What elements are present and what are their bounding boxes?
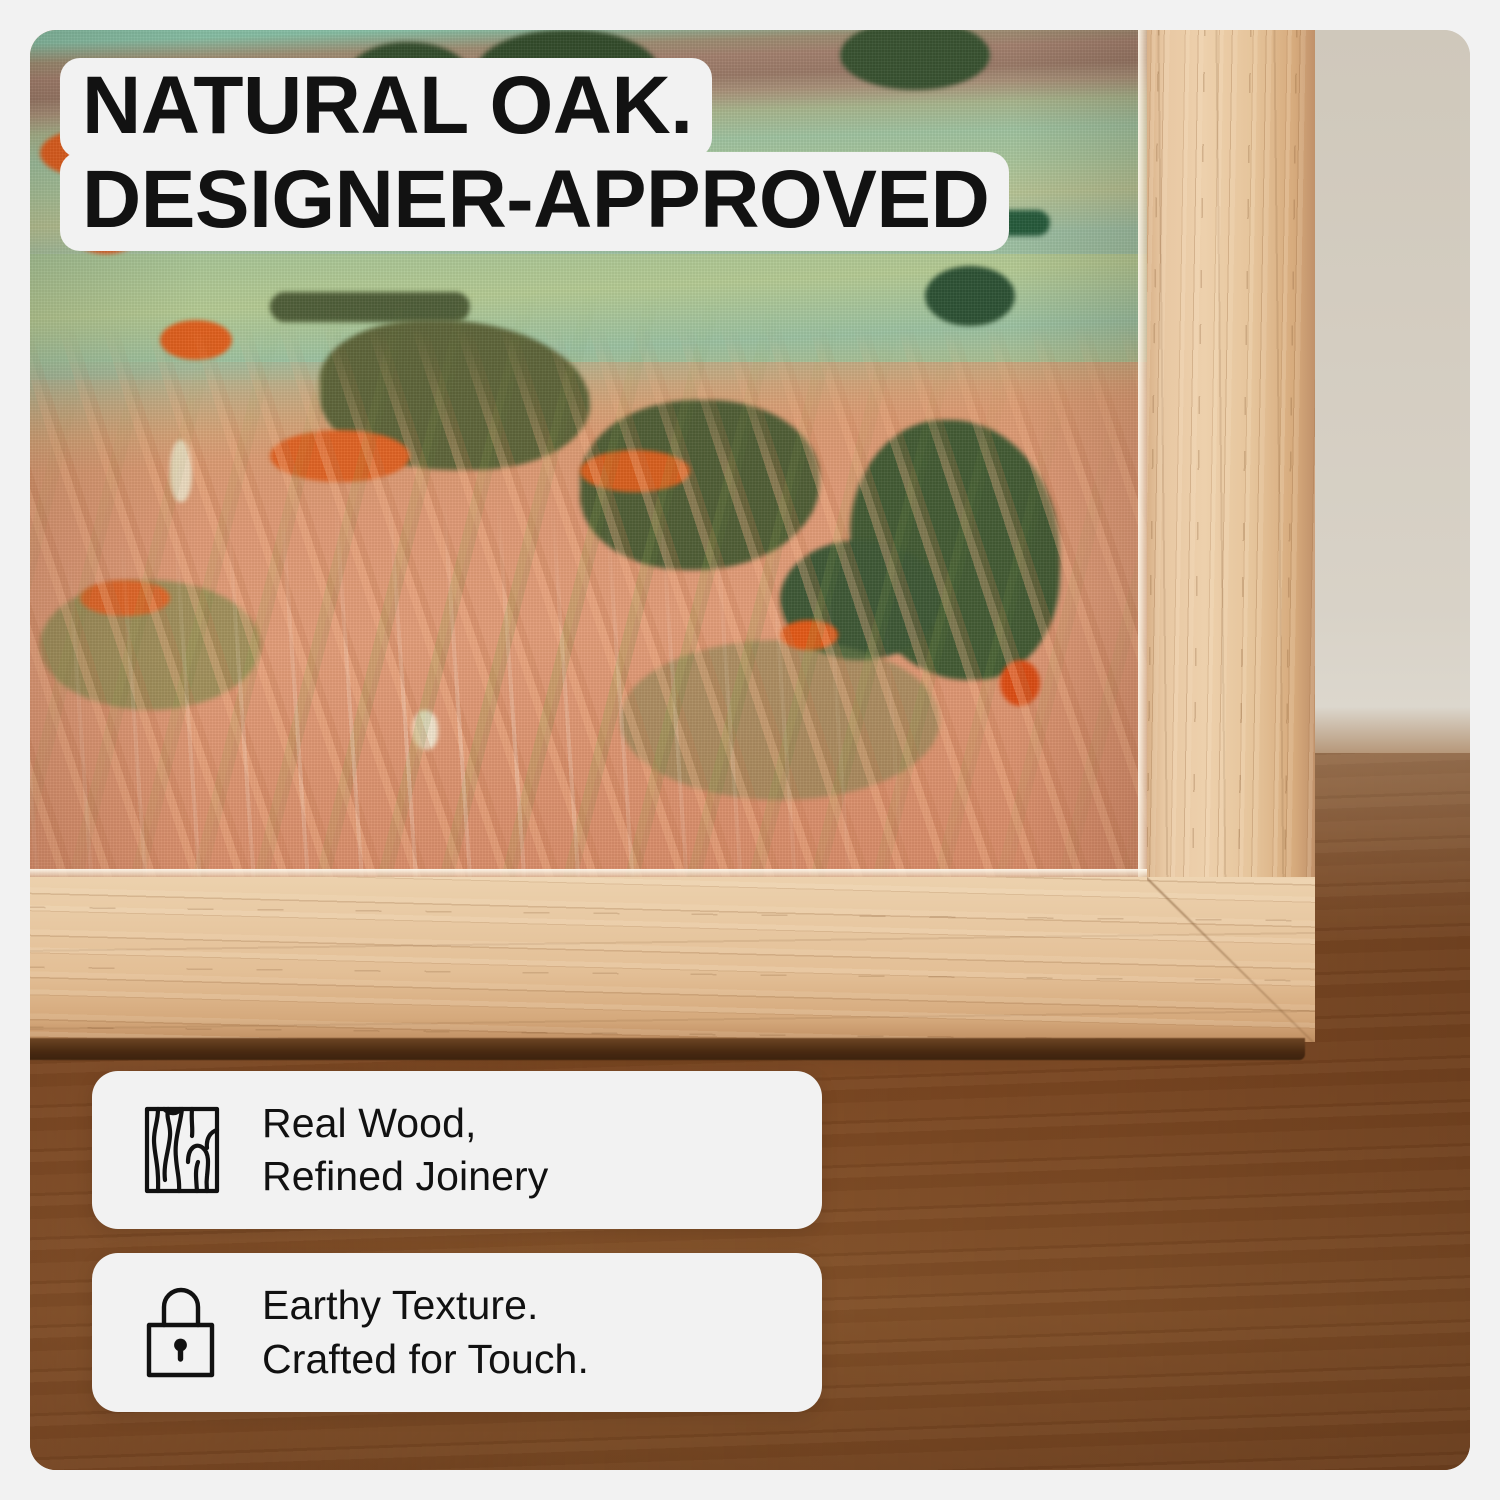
feature-badge-earthy-texture: Earthy Texture. Crafted for Touch. (92, 1253, 822, 1412)
headline-block: NATURAL OAK. DESIGNER-APPROVED (60, 58, 1120, 251)
feature-label-line-1: Real Wood, (262, 1100, 476, 1146)
feature-label-line-2: Refined Joinery (262, 1150, 548, 1203)
padlock-icon (136, 1285, 228, 1381)
wood-grain-icon (136, 1102, 228, 1198)
frame-mitre-joint (1147, 877, 1315, 1042)
feature-label-line-2: Crafted for Touch. (262, 1333, 589, 1386)
headline-line-2: DESIGNER-APPROVED (60, 152, 1009, 252)
frame-rail-bottom (30, 877, 1315, 1042)
feature-label-line-1: Earthy Texture. (262, 1282, 539, 1328)
mitre-joint-line (1147, 877, 1315, 1042)
product-photo: NATURAL OAK. DESIGNER-APPROVED (30, 30, 1470, 1470)
frame-inner-lip-bottom (30, 869, 1147, 877)
headline-line-1: NATURAL OAK. (60, 58, 712, 158)
oak-grain-flecks (30, 877, 1315, 1042)
feature-badge-list: Real Wood, Refined Joinery Earthy Textur… (92, 1047, 822, 1412)
feature-badge-label: Earthy Texture. Crafted for Touch. (262, 1279, 589, 1386)
feature-badge-real-wood: Real Wood, Refined Joinery (92, 1071, 822, 1230)
product-image-canvas: NATURAL OAK. DESIGNER-APPROVED (0, 0, 1500, 1500)
feature-badge-label: Real Wood, Refined Joinery (262, 1097, 548, 1204)
